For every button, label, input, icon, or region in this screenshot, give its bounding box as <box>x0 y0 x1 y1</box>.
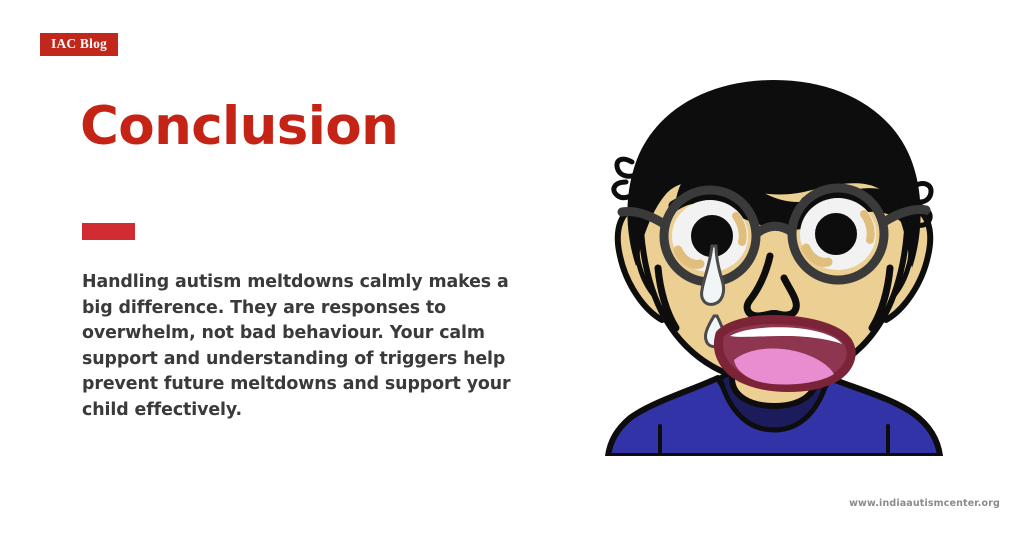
red-divider-bar <box>82 223 135 240</box>
crying-child-illustration <box>600 78 948 456</box>
page-title: Conclusion <box>80 99 398 155</box>
body-paragraph: Handling autism meltdowns calmly makes a… <box>82 270 512 424</box>
mouth-icon <box>718 320 851 388</box>
footer-website-url: www.indiaautismcenter.org <box>849 498 1000 509</box>
iac-blog-badge: IAC Blog <box>40 33 118 56</box>
slide-canvas: IAC Blog Conclusion Handling autism melt… <box>0 0 1024 536</box>
illustration-group <box>608 80 940 456</box>
